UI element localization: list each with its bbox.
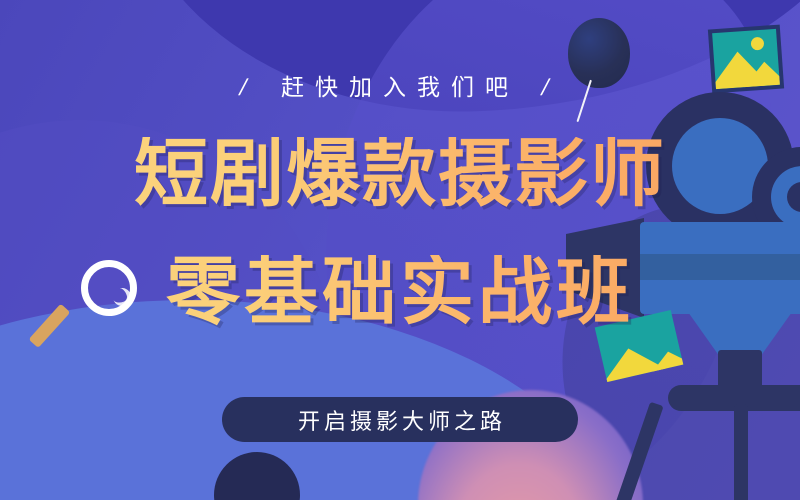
promo-banner: / 赶快加入我们吧 / 短剧爆款摄影师 零基础实战班 开启摄影大师之路 (0, 0, 800, 500)
headline-line-1: 短剧爆款摄影师 (0, 137, 800, 211)
headline-line-2: 零基础实战班 (0, 255, 800, 329)
eyebrow-tagline: / 赶快加入我们吧 / (0, 68, 800, 102)
cta-button-label: 开启摄影大师之路 (294, 404, 506, 436)
cta-button[interactable]: 开启摄影大师之路 (222, 397, 578, 442)
eyebrow-slash-left: / (231, 74, 267, 101)
eyebrow-text: 赶快加入我们吧 (281, 74, 519, 100)
banner-content: / 赶快加入我们吧 / 短剧爆款摄影师 零基础实战班 开启摄影大师之路 (0, 0, 800, 500)
eyebrow-slash-right: / (533, 74, 569, 101)
